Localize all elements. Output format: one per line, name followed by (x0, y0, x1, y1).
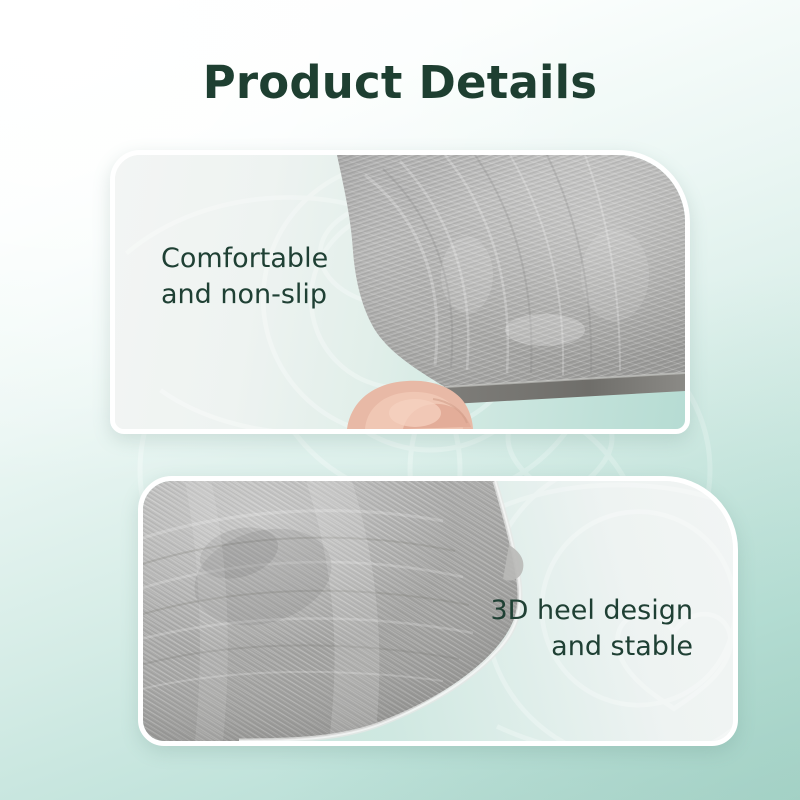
page-title: Product Details (0, 56, 800, 109)
card-caption-3d-heel: 3D heel design and stable (490, 593, 693, 665)
card-caption-comfortable: Comfortable and non-slip (161, 241, 328, 313)
product-details-page: Product Details (0, 0, 800, 800)
detail-card-3d-heel[interactable]: 3D heel design and stable (138, 476, 738, 746)
card-photo-hand-holding-sock: Comfortable and non-slip (115, 155, 685, 429)
detail-card-comfortable[interactable]: Comfortable and non-slip (110, 150, 690, 434)
card-photo-sock-heel: 3D heel design and stable (143, 481, 733, 741)
